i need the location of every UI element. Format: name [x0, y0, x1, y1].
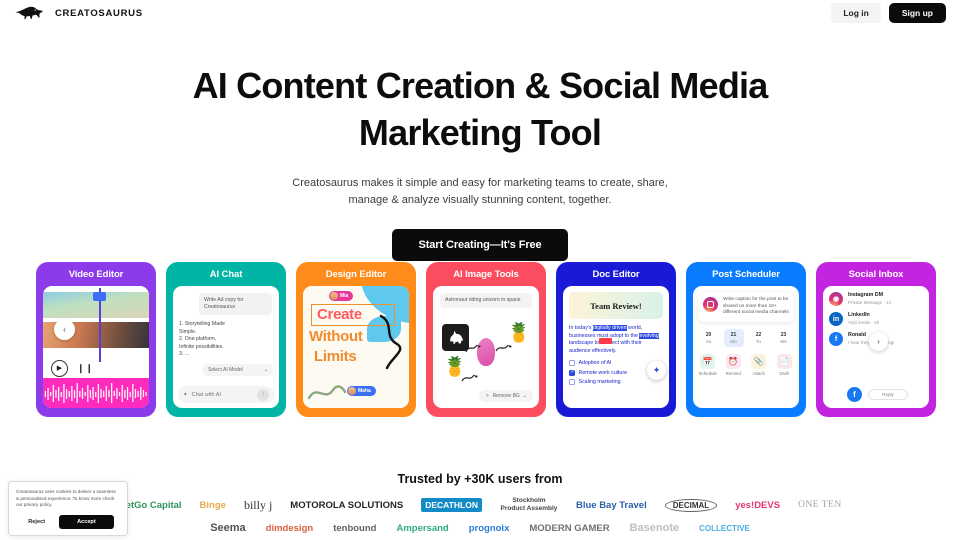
checklist-item[interactable]: Scaling marketing — [569, 379, 663, 385]
checklist-label: Scaling marketing — [579, 379, 621, 385]
card-preview: Write caption for the post to be shared … — [693, 286, 799, 408]
logo-collective: COLLECTIVE — [699, 524, 750, 533]
accept-cookies-button[interactable]: Accept — [59, 515, 114, 529]
facebook-icon-floating: f — [847, 387, 862, 402]
logo-yes-devs: yes!DEVS — [735, 500, 780, 511]
audio-waveform — [43, 378, 149, 408]
collaborator-cursor-maha: Maha — [347, 386, 376, 396]
design-headline-1: Create — [317, 306, 362, 323]
card-title: Design Editor — [303, 269, 409, 280]
magic-wand-icon: ✧ — [485, 393, 489, 399]
logo-row-2: Seema dimdesign tenbound Ampersand progn… — [0, 522, 960, 534]
cookie-actions: Reject Accept — [16, 515, 120, 529]
header-actions: Log in Sign up — [831, 3, 946, 23]
action-label: Remind — [722, 371, 744, 376]
design-canvas: Create Without Limits Mia Maha — [303, 286, 409, 408]
date-weekday: Tu — [753, 339, 765, 344]
ai-model-label: Select AI Model — [208, 367, 243, 373]
page-title: AI Content Creation & Social Media Marke… — [180, 62, 780, 156]
chevron-down-icon: ⌄ — [523, 393, 527, 399]
site-header: CREATOSAURUS Log in Sign up — [0, 0, 960, 26]
feature-card-ai-chat[interactable]: AI Chat Write Ad copy for Creatosaurus 1… — [166, 262, 286, 417]
card-preview: Astronaut riding unicorn in space 🍍 🍍 — [433, 286, 539, 408]
logo-dimdesign: dimdesign — [266, 523, 314, 534]
feature-card-post-scheduler[interactable]: Post Scheduler Write caption for the pos… — [686, 262, 806, 417]
thread-name: Instagram DM — [848, 292, 891, 298]
facebook-icon: f — [829, 332, 843, 346]
document-icon: 📄 — [777, 354, 792, 369]
date-weekday: We — [778, 339, 790, 344]
date-cell[interactable]: 23 We — [774, 329, 794, 347]
avatar — [330, 292, 338, 300]
video-controls: ▶ ❙❙ — [43, 356, 149, 380]
logo-decathlon: DECATHLON — [421, 498, 482, 512]
trusted-title: Trusted by +30K users from — [0, 472, 960, 486]
date-picker[interactable]: 20 Su 21 Mo 22 Tu 23 We — [693, 329, 799, 347]
chat-input[interactable]: ✦ Chat with AI ↑ — [178, 386, 274, 403]
logo-prognoix: prognoix — [469, 523, 510, 534]
doc-body-text: In today's digitally driven world, busin… — [569, 325, 663, 355]
action-schedule[interactable]: 📅 Schedule — [697, 354, 719, 377]
remove-bg-button[interactable]: ✧ Remove BG ⌄ — [479, 390, 533, 402]
card-title: AI Image Tools — [433, 269, 539, 280]
unicorn-icon — [445, 327, 467, 349]
card-title: Doc Editor — [563, 269, 669, 280]
prev-icon[interactable]: ‹ — [54, 319, 75, 340]
brand-logo[interactable]: CREATOSAURUS — [14, 5, 143, 21]
logo-modern-gamer: MODERN GAMER — [529, 523, 609, 534]
thread-message: Private Message · 1h — [848, 300, 891, 305]
date-cell[interactable]: 20 Su — [699, 329, 719, 347]
logo-row-1: GetGo Capital Binge billy j MOTOROLA SOL… — [0, 497, 960, 513]
card-preview: Team Review! In today's digitally driven… — [563, 286, 669, 408]
card-preview: Write Ad copy for Creatosaurus 1. Storyt… — [173, 286, 279, 408]
logo-billy-j: billy j — [244, 498, 272, 513]
paperclip-icon: 📎 — [751, 354, 766, 369]
login-button[interactable]: Log in — [831, 3, 881, 23]
design-headline-2: Without — [309, 328, 363, 345]
chat-line: Infinite possibilities. — [179, 344, 273, 352]
send-icon[interactable]: ↑ — [257, 389, 269, 401]
thread-message: Yubi Deals · 2h — [848, 320, 879, 325]
date-weekday: Mo — [728, 339, 740, 344]
caption-composer: Write caption for the post to be shared … — [698, 292, 794, 322]
instagram-icon: ◉ — [829, 292, 843, 306]
pineapple-icon: 🍍 — [507, 324, 531, 343]
play-icon[interactable]: ▶ — [51, 360, 68, 377]
logo-ampersand: Ampersand — [396, 523, 448, 534]
action-label: Attach — [748, 371, 770, 376]
logo-decimal: DECIMAL — [665, 499, 717, 512]
hero-subtitle: Creatosaurus makes it simple and easy fo… — [280, 175, 680, 208]
collaborator-caret — [599, 338, 612, 344]
chevron-down-icon: ⌄ — [264, 367, 268, 373]
landing-page: CREATOSAURUS Log in Sign up AI Content C… — [0, 0, 960, 540]
design-headline-3: Limits — [314, 348, 356, 365]
chat-line: 2. One platform, — [179, 336, 273, 344]
action-label: Draft — [773, 371, 795, 376]
checkbox-icon[interactable] — [569, 360, 575, 366]
calendar-icon: 📅 — [700, 354, 715, 369]
feature-card-doc-editor[interactable]: Doc Editor Team Review! In today's digit… — [556, 262, 676, 417]
pause-icon[interactable]: ❙❙ — [77, 363, 94, 374]
playhead-handle[interactable] — [93, 292, 106, 301]
date-cell[interactable]: 22 Tu — [749, 329, 769, 347]
cta-wrapper: Start Creating—It's Free — [0, 229, 960, 261]
dinosaur-icon — [14, 5, 48, 21]
logo-basenote: Basenote — [630, 522, 680, 534]
action-draft[interactable]: 📄 Draft — [773, 354, 795, 377]
logo-seema: Seema — [210, 522, 245, 534]
date-number: 22 — [753, 332, 765, 338]
logo-blue-bay-travel: Blue Bay Travel — [576, 500, 647, 511]
action-label: Schedule — [697, 371, 719, 376]
reject-cookies-button[interactable]: Reject — [22, 516, 51, 528]
date-number: 23 — [778, 332, 790, 338]
feature-card-social-inbox[interactable]: Social Inbox ◉ Instagram DM Private Mess… — [816, 262, 936, 417]
checklist-label: Adoption of AI — [579, 360, 612, 366]
start-creating-button[interactable]: Start Creating—It's Free — [392, 229, 567, 261]
card-title: AI Chat — [173, 269, 279, 280]
reply-input[interactable]: Reply — [868, 389, 908, 400]
brand-name: CREATOSAURUS — [55, 8, 143, 19]
collaborator-name: Mia — [340, 293, 348, 299]
card-title: Post Scheduler — [693, 269, 799, 280]
logo-one-ten: ONE TEN — [798, 500, 842, 510]
cookie-consent-banner: Creatosaurus uses cookies to deliver a s… — [8, 481, 128, 536]
connector-icon — [465, 342, 483, 354]
inbox-thread[interactable]: in LinkedIn Yubi Deals · 2h — [823, 306, 929, 326]
chat-line: Simple. — [179, 329, 273, 337]
squiggle-black-icon — [377, 314, 407, 374]
logo-tenbound: tenbound — [333, 523, 376, 534]
chat-line: 3. ... — [179, 351, 273, 359]
avatar — [348, 387, 356, 395]
doc-heading: Team Review! — [569, 292, 663, 319]
card-preview: ◉ Instagram DM Private Message · 1h in L… — [823, 286, 929, 408]
checkbox-checked-icon[interactable] — [569, 370, 575, 376]
card-preview: ‹ ▶ ❙❙ — [43, 286, 149, 408]
logo-motorola-solutions: MOTOROLA SOLUTIONS — [290, 500, 403, 511]
caption-text: Write caption for the post to be shared … — [723, 297, 789, 317]
ai-model-select[interactable]: Select AI Model ⌄ — [203, 364, 273, 376]
logo-binge: Binge — [200, 500, 226, 511]
chat-line: 1. Storytelling Made — [179, 321, 273, 329]
trusted-section: Trusted by +30K users from GetGo Capital… — [0, 472, 960, 534]
date-number: 21 — [728, 332, 740, 338]
feature-card-ai-image-tools[interactable]: AI Image Tools Astronaut riding unicorn … — [426, 262, 546, 417]
checklist-label: Remote work culture — [579, 370, 628, 376]
linkedin-icon: in — [829, 312, 843, 326]
collaborator-cursor-mia: Mia — [329, 291, 353, 301]
date-number: 20 — [703, 332, 715, 338]
chat-input-placeholder: Chat with AI — [192, 392, 221, 398]
hero-section: AI Content Creation & Social Media Marke… — [0, 62, 960, 261]
sparkle-icon: ✦ — [183, 392, 188, 398]
image-prompt: Astronaut riding unicorn in space — [440, 293, 532, 308]
checkbox-icon[interactable] — [569, 379, 575, 385]
connector-icon — [495, 342, 513, 354]
signup-button[interactable]: Sign up — [889, 3, 946, 23]
thread-name: LinkedIn — [848, 312, 879, 318]
clock-icon: ⏰ — [726, 354, 741, 369]
next-arrow-icon[interactable]: › — [869, 332, 888, 351]
feature-card-design-editor[interactable]: Design Editor Create Without Limits Mia — [296, 262, 416, 417]
collaborator-name: Maha — [358, 388, 371, 394]
scheduler-actions: 📅 Schedule ⏰ Remind 📎 Attach 📄 Draft — [693, 354, 799, 377]
action-attach[interactable]: 📎 Attach — [748, 354, 770, 377]
highlight-blue: digitally driven — [593, 325, 627, 331]
date-weekday: Su — [703, 339, 715, 344]
card-title: Video Editor — [43, 269, 149, 280]
card-preview: Create Without Limits Mia Maha — [303, 286, 409, 408]
inbox-thread[interactable]: ◉ Instagram DM Private Message · 1h — [823, 286, 929, 306]
action-remind[interactable]: ⏰ Remind — [722, 354, 744, 377]
feature-card-video-editor[interactable]: Video Editor ‹ ▶ ❙❙ — [36, 262, 156, 417]
connector-icon — [461, 372, 479, 384]
date-cell-selected[interactable]: 21 Mo — [724, 329, 744, 347]
remove-bg-label: Remove BG — [493, 393, 520, 399]
highlight-blue-2: evolving — [639, 333, 658, 339]
card-title: Social Inbox — [823, 269, 929, 280]
squiggle-green-icon — [307, 382, 347, 404]
logo-stockholm-product-assembly: Stockholm Product Assembly — [500, 497, 558, 513]
cookie-text: Creatosaurus uses cookies to deliver a s… — [16, 489, 120, 509]
feature-carousel[interactable]: Video Editor ‹ ▶ ❙❙ — [0, 262, 960, 418]
ai-assist-icon[interactable]: ✦ — [647, 361, 666, 380]
instagram-icon — [703, 297, 718, 312]
chat-response: 1. Storytelling Made Simple. 2. One plat… — [179, 321, 273, 359]
chat-prompt-bubble: Write Ad copy for Creatosaurus — [199, 293, 272, 315]
